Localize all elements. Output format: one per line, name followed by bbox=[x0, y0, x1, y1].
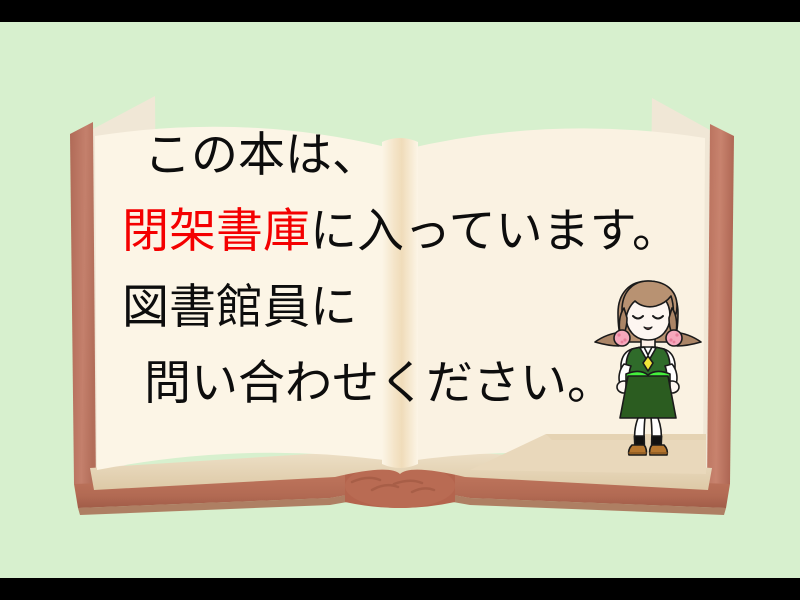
letterbox-top bbox=[0, 0, 800, 22]
message-line-3: 図書館員に bbox=[122, 270, 682, 346]
message-line-3-text: 図書館員に bbox=[122, 280, 357, 335]
message-line-4: 問い合わせください。 bbox=[122, 346, 682, 422]
letterbox-bottom bbox=[0, 578, 800, 600]
message-line-2-rest: に入っています。 bbox=[310, 204, 679, 259]
message-line-1: この本は、 bbox=[122, 118, 682, 194]
message-line-1-text: この本は、 bbox=[144, 128, 379, 183]
message-line-2: 閉架書庫に入っています。 bbox=[122, 194, 682, 270]
message-text-block: この本は、 閉架書庫に入っています。 図書館員に 問い合わせください。 bbox=[122, 118, 682, 422]
slide-canvas: この本は、 閉架書庫に入っています。 図書館員に 問い合わせください。 bbox=[0, 22, 800, 578]
closed-stacks-highlight: 閉架書庫 bbox=[122, 204, 310, 259]
slide-stage: この本は、 閉架書庫に入っています。 図書館員に 問い合わせください。 bbox=[0, 0, 800, 600]
message-line-4-text: 問い合わせください。 bbox=[144, 356, 614, 411]
